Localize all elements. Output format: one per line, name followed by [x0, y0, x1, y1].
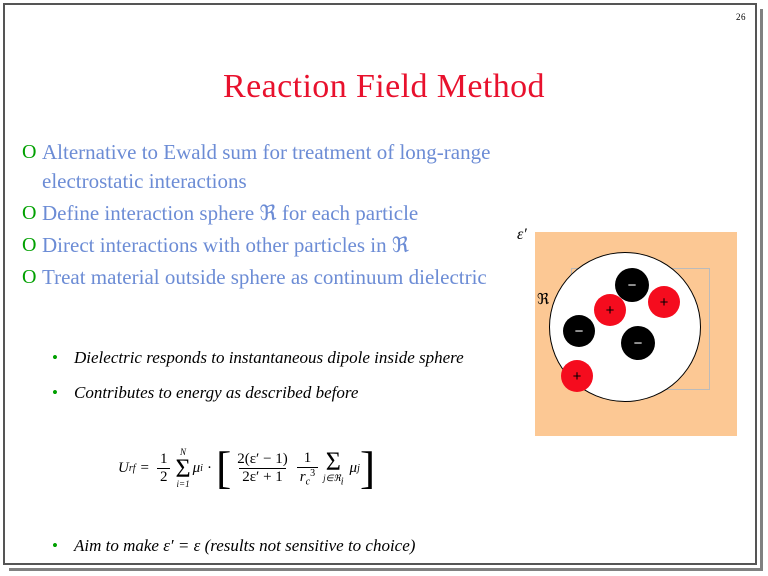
sub-bullet-text: Dielectric responds to instantaneous dip…: [74, 345, 522, 370]
bullet-text: Alternative to Ewald sum for treatment o…: [42, 138, 534, 196]
list-item: O Treat material outside sphere as conti…: [22, 263, 534, 292]
equation-lhs-subscript: rf: [129, 463, 136, 474]
bullet-text: Treat material outside sphere as continu…: [42, 263, 534, 292]
sum-lower-limit: j∈ℜi: [323, 474, 343, 488]
fraction-denominator: 2: [157, 468, 171, 486]
particle-positive: +: [594, 294, 626, 326]
sub-bullet-text: Contributes to energy as described befor…: [74, 380, 522, 405]
bracket-open-icon: [: [216, 450, 231, 487]
sub-bullet-list: • Dielectric responds to instantaneous d…: [52, 345, 522, 415]
charge-label: −: [575, 324, 584, 339]
fraction-denominator: 2ε′ + 1: [239, 468, 286, 486]
fraction-numerator: 2(ε′ − 1): [234, 451, 291, 468]
reaction-field-equation: Urf = 1 2 N Σ i=1 μi · [ 2(ε′ − 1) 2ε′ +…: [118, 448, 375, 489]
final-sub-bullet-list: • Aim to make ε′ = ε (results not sensit…: [52, 533, 572, 568]
slide-canvas: 26 Reaction Field Method O Alternative t…: [0, 0, 768, 576]
equation-mu-i: μ: [193, 460, 201, 477]
bullet-circle-icon: O: [22, 263, 42, 291]
bullet-text: Direct interactions with other particles…: [42, 231, 534, 260]
list-item: O Define interaction sphere ℜ for each p…: [22, 199, 534, 228]
list-item: • Dielectric responds to instantaneous d…: [52, 345, 522, 370]
list-item: O Direct interactions with other particl…: [22, 231, 534, 260]
bullet-dot-icon: •: [52, 533, 74, 558]
sum-lower-limit: i=1: [177, 480, 190, 489]
equation-cutoff-factor: 1 rc3: [297, 450, 318, 488]
bullet-dot-icon: •: [52, 380, 74, 405]
sub-bullet-text: Aim to make ε′ = ε (results not sensitiv…: [74, 533, 572, 558]
equation-equals: =: [141, 460, 149, 477]
equation-one-half: 1 2: [157, 451, 171, 487]
equation-mu-i-subscript: i: [200, 463, 203, 474]
equation-dielectric-factor: 2(ε′ − 1) 2ε′ + 1: [234, 451, 291, 487]
charge-label: +: [573, 369, 582, 384]
particle-negative: −: [563, 315, 595, 347]
fraction-denominator: rc3: [297, 467, 318, 488]
list-item: • Contributes to energy as described bef…: [52, 380, 522, 405]
particle-positive: +: [561, 360, 593, 392]
bullet-circle-icon: O: [22, 138, 42, 166]
equation-outer-sum: N Σ i=1: [175, 448, 190, 489]
equation-inner-sum: Σ j∈ℜi: [323, 450, 343, 487]
page-number: 26: [736, 12, 746, 22]
charge-label: −: [628, 278, 637, 293]
equation-dot-product: ·: [207, 460, 212, 477]
sphere-radius-label: ℜ: [537, 290, 549, 308]
charge-label: +: [660, 295, 669, 310]
bullet-circle-icon: O: [22, 199, 42, 227]
sum-index-subscript: i: [341, 476, 344, 487]
equation-lhs-symbol: U: [118, 460, 129, 477]
charge-label: −: [634, 336, 643, 351]
main-bullet-list: O Alternative to Ewald sum for treatment…: [22, 138, 534, 295]
sum-index-set: j∈ℜ: [323, 473, 341, 483]
bullet-text: Define interaction sphere ℜ for each par…: [42, 199, 534, 228]
epsilon-prime-label: ε′: [517, 226, 527, 244]
bullet-dot-icon: •: [52, 345, 74, 370]
reaction-field-diagram: − + + − − + ε′ ℜ: [535, 232, 737, 436]
bullet-circle-icon: O: [22, 231, 42, 259]
particle-positive: +: [648, 286, 680, 318]
list-item: • Aim to make ε′ = ε (results not sensit…: [52, 533, 572, 558]
equation-mu-j: μ: [350, 460, 358, 477]
particle-negative: −: [621, 326, 655, 360]
list-item: O Alternative to Ewald sum for treatment…: [22, 138, 534, 196]
fraction-numerator: 1: [301, 450, 315, 467]
page-title: Reaction Field Method: [0, 68, 768, 106]
fraction-numerator: 1: [157, 451, 171, 468]
cutoff-radius-exponent: 3: [310, 468, 315, 479]
charge-label: +: [606, 303, 615, 318]
sigma-icon: Σ: [175, 457, 190, 480]
bracket-close-icon: ]: [360, 450, 375, 487]
sigma-icon: Σ: [326, 450, 341, 473]
